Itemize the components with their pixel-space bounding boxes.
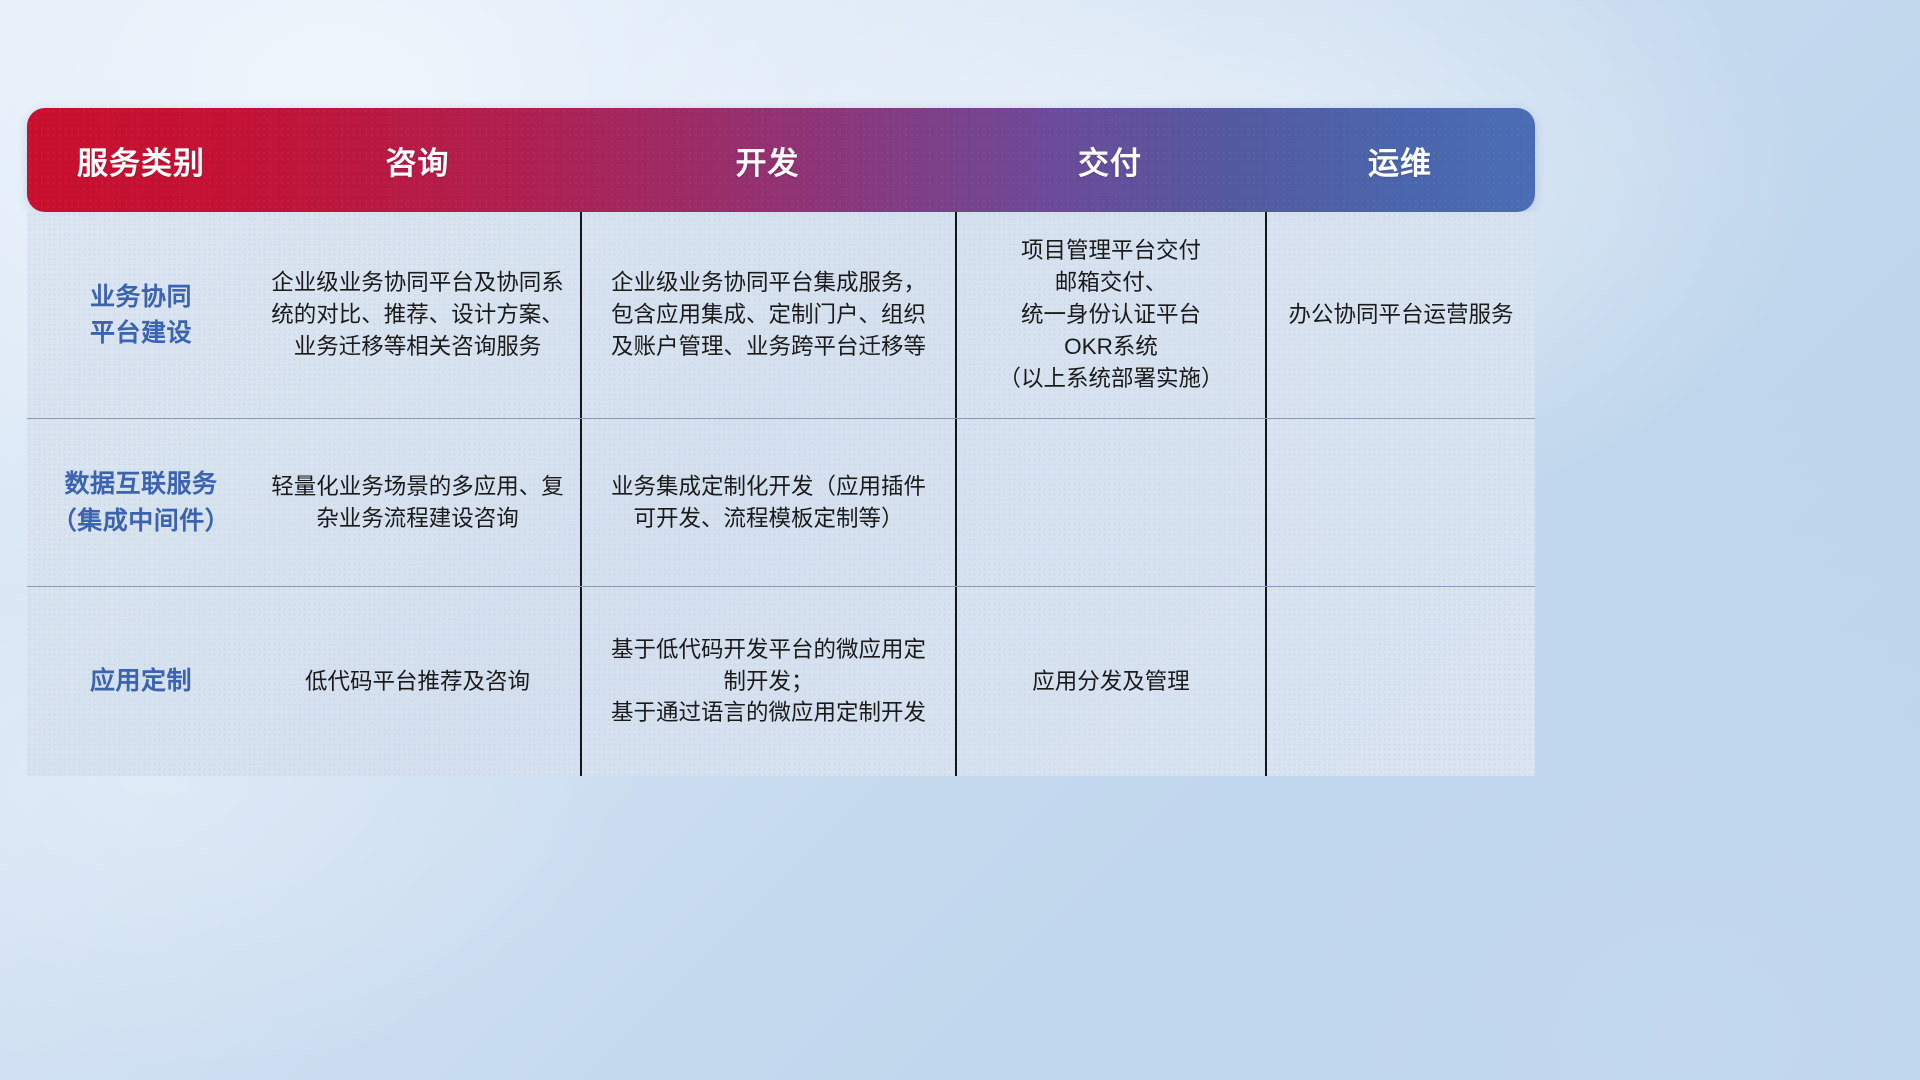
cell-delivery [955, 419, 1265, 586]
cell-consulting: 低代码平台推荐及咨询 [255, 587, 580, 776]
row-category-label: 业务协同 平台建设 [27, 212, 255, 418]
table-body: 业务协同 平台建设 企业级业务协同平台及协同系 统的对比、推荐、设计方案、 业务… [27, 212, 1535, 776]
column-header-operations: 运维 [1265, 138, 1535, 183]
row-category-label: 应用定制 [27, 587, 255, 776]
table-row: 业务协同 平台建设 企业级业务协同平台及协同系 统的对比、推荐、设计方案、 业务… [27, 212, 1535, 418]
column-header-consulting: 咨询 [255, 138, 580, 183]
row-category-label: 数据互联服务 （集成中间件） [27, 419, 255, 586]
column-header-delivery: 交付 [955, 138, 1265, 183]
cell-consulting: 轻量化业务场景的多应用、复 杂业务流程建设咨询 [255, 419, 580, 586]
table-row: 数据互联服务 （集成中间件） 轻量化业务场景的多应用、复 杂业务流程建设咨询 业… [27, 418, 1535, 586]
cell-consulting: 企业级业务协同平台及协同系 统的对比、推荐、设计方案、 业务迁移等相关咨询服务 [255, 212, 580, 418]
table-header-row: 服务类别 咨询 开发 交付 运维 [27, 108, 1535, 212]
cell-operations [1265, 419, 1535, 586]
cell-operations [1265, 587, 1535, 776]
cell-delivery: 项目管理平台交付 邮箱交付、 统一身份认证平台 OKR系统 （以上系统部署实施） [955, 212, 1265, 418]
column-header-development: 开发 [580, 138, 955, 183]
cell-operations: 办公协同平台运营服务 [1265, 212, 1535, 418]
cell-development: 基于低代码开发平台的微应用定 制开发； 基于通过语言的微应用定制开发 [580, 587, 955, 776]
column-header-category: 服务类别 [27, 138, 255, 183]
cell-development: 企业级业务协同平台集成服务， 包含应用集成、定制门户、组织 及账户管理、业务跨平… [580, 212, 955, 418]
cell-development: 业务集成定制化开发（应用插件 可开发、流程模板定制等） [580, 419, 955, 586]
table-row: 应用定制 低代码平台推荐及咨询 基于低代码开发平台的微应用定 制开发； 基于通过… [27, 586, 1535, 776]
service-category-table: 服务类别 咨询 开发 交付 运维 业务协同 平台建设 企业级业务协同平台及协同系… [27, 108, 1535, 776]
cell-delivery: 应用分发及管理 [955, 587, 1265, 776]
